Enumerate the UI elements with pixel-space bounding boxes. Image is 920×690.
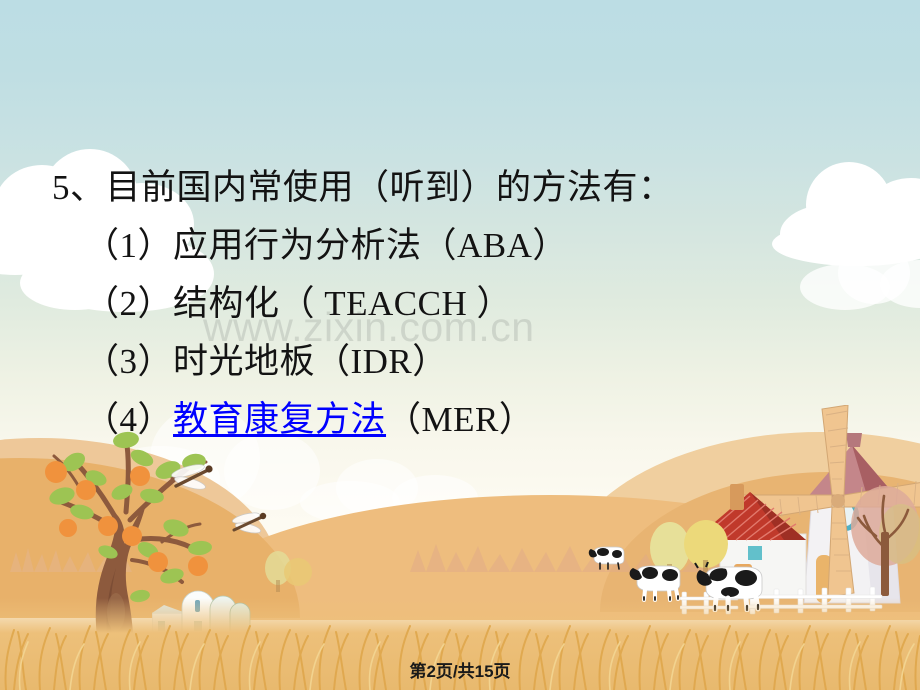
small-tree-left-of-house (262, 546, 314, 592)
hyperlink-education-rehab[interactable]: 教育康复方法 (173, 400, 386, 439)
dragonfly-lower (228, 510, 276, 538)
autumn-tree (846, 478, 920, 598)
list-item-1: （1）应用行为分析法（ABA） (84, 228, 568, 263)
list-item-3: （3）时光地板（IDR） (84, 344, 448, 379)
presentation-slide: www.zixin.com.cn 5、目前国内常使用（听到）的方法有： （1）应… (0, 0, 920, 690)
dragonfly-upper (168, 462, 224, 496)
cloud-right-lower (800, 240, 920, 310)
slide-heading: 5、目前国内常使用（听到）的方法有： (52, 170, 674, 205)
page-number-footer: 第2页/共15页 (0, 657, 920, 682)
list-item-4-suffix: （MER） (386, 400, 534, 439)
cow-center-hilltop (588, 544, 626, 570)
list-item-2: （2）结构化（ TEACCH ） (84, 286, 512, 321)
list-item-4: （4）教育康复方法（MER） (84, 402, 534, 437)
list-item-4-prefix: （4） (84, 400, 173, 439)
